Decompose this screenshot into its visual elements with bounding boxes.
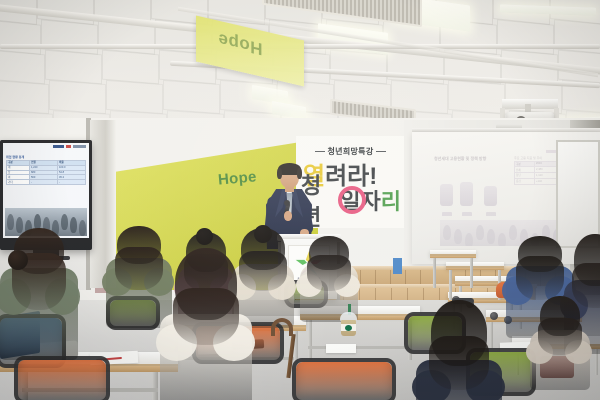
umbrella-icon [271,318,297,376]
umbrella-shaft [286,334,295,378]
attendee-right-back [530,296,590,396]
attendee-right-blue-hair-fall [516,256,564,301]
attendee-back-2-hair-bun [196,228,213,245]
attendee-center-front [160,248,252,400]
desk-leg [449,270,452,300]
chair-frame [292,358,396,400]
attendee-right-back-hair-fall [538,318,582,355]
umbrella-handle [271,318,293,336]
attendee-back-left-hair-fall [115,247,163,290]
desk-edge [446,268,504,270]
coffee-cup-icon [340,312,357,336]
attendee-center-front-hair-fall [173,288,239,345]
attendee-mid-left-hair-bun [8,250,28,270]
cup-logo-icon [345,325,352,331]
attendee-right-front [416,300,502,400]
attendee-right-front-hair-fall [429,336,489,389]
paper-sheet [326,344,356,353]
desk-leg [470,258,473,288]
desk-leg [433,258,436,288]
audience-area [0,0,600,400]
attendee-mid-left [0,228,78,366]
desk-cross-rail [308,346,408,349]
attendee-back-4-hair-fall [307,255,351,291]
attendee-back-3-hair-bun [254,225,272,243]
lecture-hall-photo: Hope Hope 청년희망특강 열 려라! 청년 일 자 리 [0,0,600,400]
desk-leg [152,372,158,400]
